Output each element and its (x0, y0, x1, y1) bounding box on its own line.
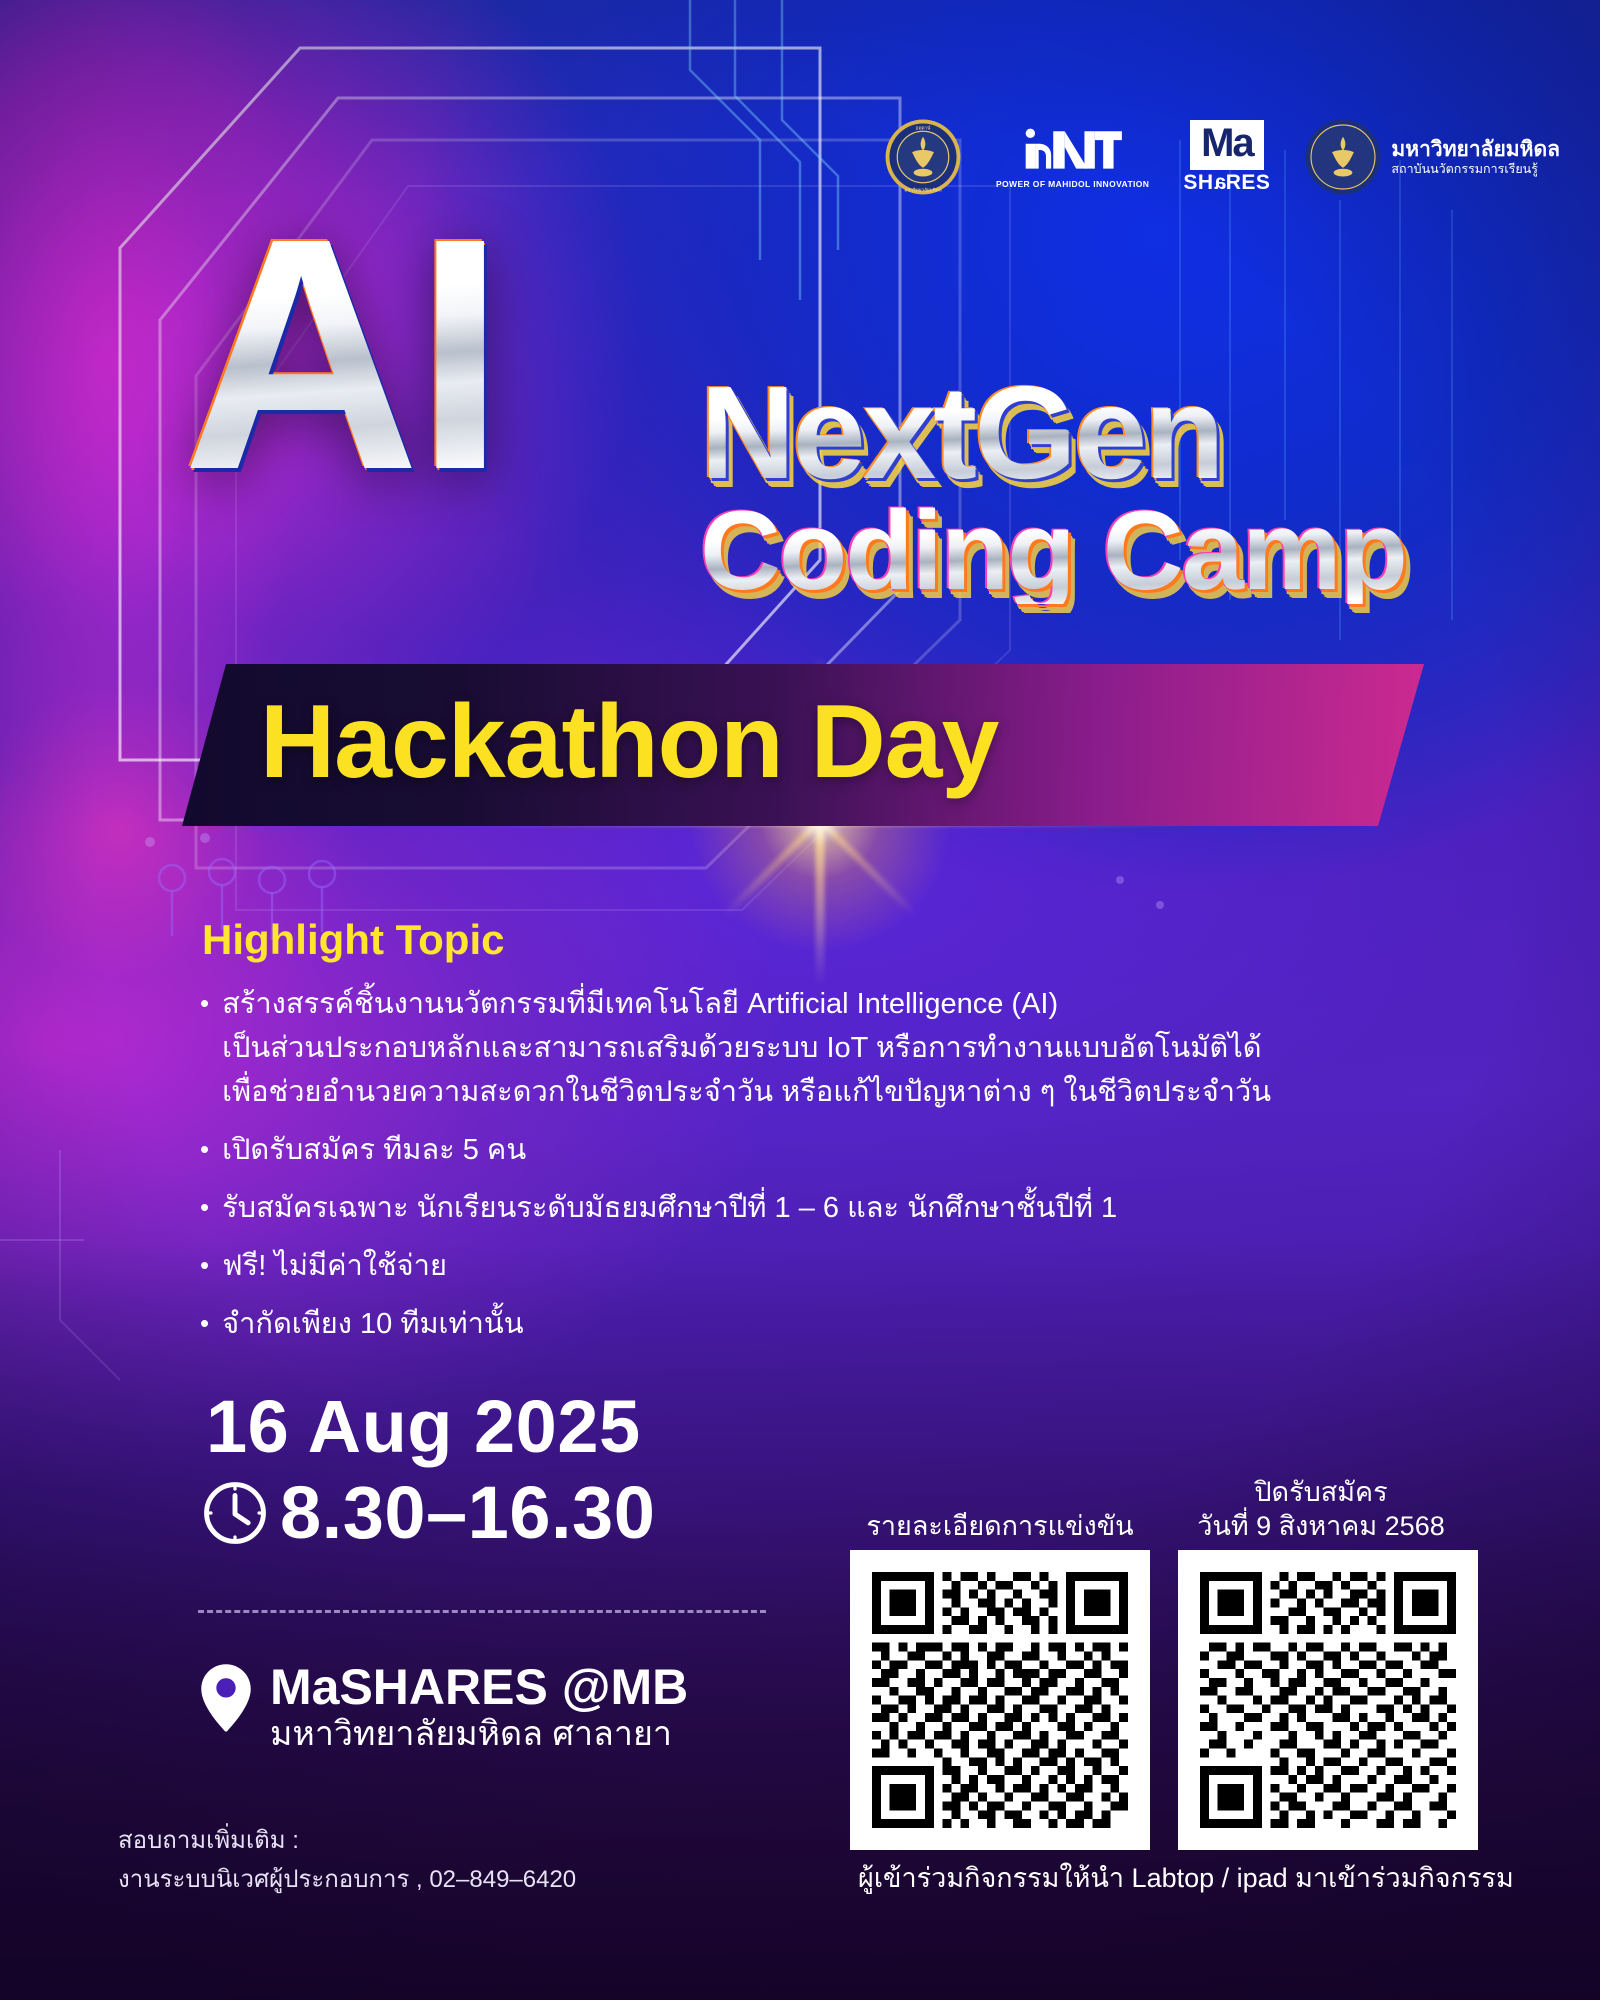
bullet-dot-icon: • (200, 1186, 209, 1228)
bullet-line: รับสมัครเฉพาะ นักเรียนระดับมัธยมศึกษาปีท… (222, 1186, 1460, 1230)
bullet-line: ฟรี! ไม่มีค่าใช้จ่าย (222, 1244, 1460, 1288)
qr-code-image-right (1200, 1572, 1456, 1828)
bullet-line: สร้างสรรค์ชิ้นงานนวัตกรรมที่มีเทคโนโลยี … (222, 982, 1460, 1026)
contact-line-2: งานระบบนิเวศผู้ประกอบการ , 02–849–6420 (118, 1861, 576, 1900)
bullet-line: จำกัดเพียง 10 ทีมเท่านั้น (222, 1302, 1460, 1346)
venue-subtitle: มหาวิทยาลัยมหิดล ศาลายา (270, 1716, 688, 1753)
contact-block: สอบถามเพิ่มเติม : งานระบบนิเวศผู้ประกอบก… (118, 1822, 576, 1900)
qr-code-image-left (872, 1572, 1128, 1828)
clock-icon (200, 1478, 270, 1548)
qr-footer-note: ผู้เข้าร่วมกิจกรรมให้นำ Labtop / ipad มา… (858, 1856, 1514, 1899)
list-item: • สร้างสรรค์ชิ้นงานนวัตกรรมที่มีเทคโนโลย… (200, 982, 1460, 1114)
section-divider (198, 1610, 766, 1613)
poster-root: อตฺตานํ มหาวิทยาลัยมหิดล POWER OF MAHIDO… (0, 0, 1600, 2000)
highlight-topic-heading: Highlight Topic (202, 916, 505, 964)
list-item: • เปิดรับสมัคร ทีมละ 5 คน (200, 1128, 1460, 1172)
qr-left-label: รายละเอียดการแข่งขัน (850, 1509, 1150, 1544)
list-item: • รับสมัครเฉพาะ นักเรียนระดับมัธยมศึกษาป… (200, 1186, 1460, 1230)
event-time: 8.30–16.30 (280, 1476, 655, 1550)
highlight-bullet-list: • สร้างสรรค์ชิ้นงานนวัตกรรมที่มีเทคโนโลย… (200, 982, 1460, 1361)
venue-name: MaSHARES @MB (270, 1660, 688, 1714)
bullet-dot-icon: • (200, 1302, 209, 1344)
qr-right-label-line2: วันที่ 9 สิงหาคม 2568 (1156, 1509, 1486, 1544)
event-time-row: 8.30–16.30 (200, 1476, 655, 1550)
event-venue-row: MaSHARES @MB มหาวิทยาลัยมหิดล ศาลายา (198, 1660, 688, 1753)
qr-right-label-line1: ปิดรับสมัคร (1156, 1475, 1486, 1510)
qr-section: รายละเอียดการแข่งขัน ปิดรับสมัคร วันที่ … (840, 1440, 1580, 1850)
bullet-dot-icon: • (200, 982, 209, 1024)
bullet-line: เพื่อช่วยอำนวยความสะดวกในชีวิตประจำวัน ห… (222, 1070, 1460, 1114)
content-block: Highlight Topic • สร้างสรรค์ชิ้นงานนวัตก… (0, 0, 1600, 2000)
bullet-line: เป็นส่วนประกอบหลักและสามารถเสริมด้วยระบบ… (222, 1026, 1460, 1070)
qr-code-registration[interactable] (1178, 1550, 1478, 1850)
qr-right-label: ปิดรับสมัคร วันที่ 9 สิงหาคม 2568 (1156, 1475, 1486, 1544)
list-item: • จำกัดเพียง 10 ทีมเท่านั้น (200, 1302, 1460, 1346)
bullet-dot-icon: • (200, 1244, 209, 1286)
map-pin-icon (198, 1662, 254, 1734)
bullet-dot-icon: • (200, 1128, 209, 1170)
bullet-line: เปิดรับสมัคร ทีมละ 5 คน (222, 1128, 1460, 1172)
qr-code-competition-details[interactable] (850, 1550, 1150, 1850)
event-date: 16 Aug 2025 (206, 1384, 641, 1469)
contact-line-1: สอบถามเพิ่มเติม : (118, 1822, 576, 1861)
list-item: • ฟรี! ไม่มีค่าใช้จ่าย (200, 1244, 1460, 1288)
